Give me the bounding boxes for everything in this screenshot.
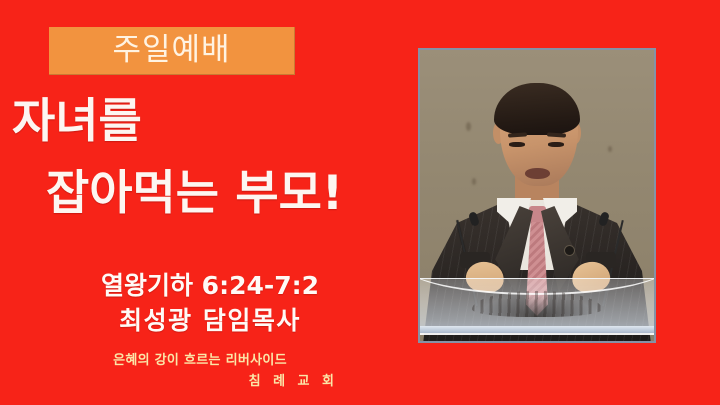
sermon-title-card: 주일예배 자녀를 잡아먹는 부모! 열왕기하 6:24-7:2 최성광 담임목사… (0, 0, 720, 405)
acrylic-pulpit (418, 278, 656, 335)
sermon-title: 자녀를 잡아먹는 부모! (0, 98, 420, 219)
wall-scuff (472, 178, 476, 185)
hair (494, 83, 580, 135)
pulpit-etched-emblem (472, 291, 602, 317)
wall-scuff (466, 122, 471, 131)
sermon-title-line-1: 자녀를 (0, 98, 420, 146)
eye-left (509, 142, 525, 147)
scripture-reference: 열왕기하 6:24-7:2 (0, 270, 420, 302)
pulpit-base-strip (418, 326, 656, 333)
eye-right (548, 142, 564, 147)
photo-scene (420, 50, 654, 341)
church-name-line-1: 은혜의 강이 흐르는 리버사이드 (0, 352, 400, 371)
sermon-meta: 열왕기하 6:24-7:2 최성광 담임목사 (0, 270, 420, 337)
mouth (525, 168, 550, 179)
service-type-label: 주일예배 (112, 35, 230, 66)
church-name: 은혜의 강이 흐르는 리버사이드 침 례 교 회 (0, 352, 400, 392)
speaker-name: 최성광 담임목사 (0, 305, 420, 337)
wall-scuff (608, 146, 612, 152)
speaker-photo (418, 48, 656, 343)
sermon-title-line-2: 잡아먹는 부모! (0, 170, 420, 218)
church-name-line-2: 침 례 교 회 (0, 373, 400, 392)
service-type-badge: 주일예배 (49, 27, 295, 75)
lapel-pin (565, 246, 574, 255)
